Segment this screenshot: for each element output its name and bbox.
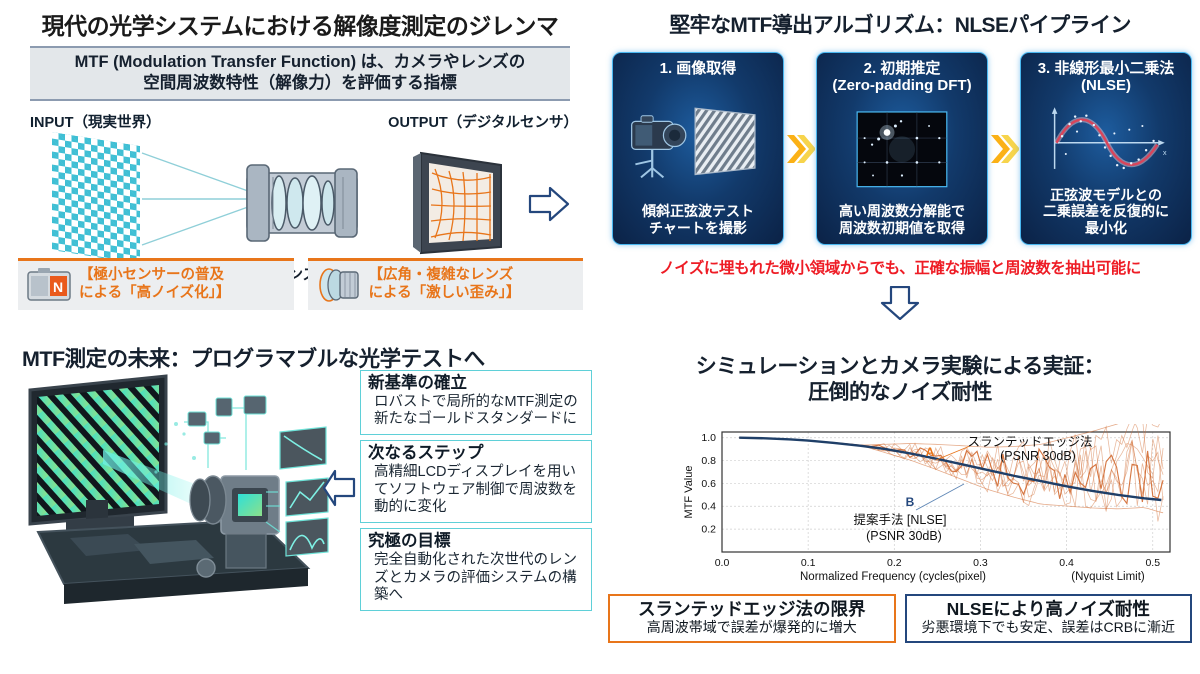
mtf-chart-svg: 0.20.40.60.81.00.00.10.20.30.40.5MTF Val… <box>678 424 1178 594</box>
pipeline-card-1: 1. 画像取得 <box>612 52 784 245</box>
validation-title-line1: シミュレーションとカメラ実験による実証： <box>600 354 1200 380</box>
card-3-footer: 正弦波モデルとの 二乗誤差を反復的に 最小化 <box>1038 185 1174 244</box>
svg-text:(Nyquist Limit): (Nyquist Limit) <box>1071 571 1145 583</box>
checkerboard-chart-icon <box>52 132 140 264</box>
future-box-standard-body: ロバストで局所的なMTF測定の新たなゴールドスタンダードに <box>368 394 585 429</box>
io-labels: INPUT（現実世界） OUTPUT（デジタルセンサ） <box>0 107 600 133</box>
conclusion-slanted-edge-body: 高周波帯域で誤差が爆発的に増大 <box>615 619 889 636</box>
arrow-left-icon <box>322 468 356 508</box>
chevron-arrow-1 <box>784 52 816 245</box>
camera-chart-icon <box>613 79 783 201</box>
card-1-footer: 傾斜正弦波テスト チャートを撮影 <box>637 201 759 244</box>
svg-text:0.0: 0.0 <box>715 557 730 569</box>
future-box-standard: 新基準の確立 ロバストで局所的なMTF測定の新たなゴールドスタンダードに <box>360 370 592 435</box>
arrow-right-icon <box>528 185 570 223</box>
mtf-chart: 0.20.40.60.81.00.00.10.20.30.40.5MTF Val… <box>678 424 1178 594</box>
pipeline-cards: 1. 画像取得 <box>612 52 1192 245</box>
future-box-nextstep: 次なるステップ 高精細LCDディスプレイを用いてソフトウェア制御で周波数を動的に… <box>360 440 592 523</box>
card-1-heading: 1. 画像取得 <box>656 53 741 79</box>
chevron-right-icon <box>989 129 1019 169</box>
validation-title-line2: 圧倒的なノイズ耐性 <box>600 380 1200 406</box>
svg-text:0.2: 0.2 <box>701 524 716 536</box>
conclusion-boxes: スランテッドエッジ法の限界 高周波帯域で誤差が爆発的に増大 NLSEにより高ノイ… <box>608 594 1192 643</box>
problem-list: N 【極小センサーの普及 による「高ノイズ化」】 【広角・複雑なレンズ による「… <box>18 258 583 310</box>
svg-text:0.4: 0.4 <box>1059 557 1074 569</box>
future-boxes: 新基準の確立 ロバストで局所的なMTF測定の新たなゴールドスタンダードに 次なる… <box>360 370 592 616</box>
future-box-nextstep-body: 高精細LCDディスプレイを用いてソフトウェア制御で周波数を動的に変化 <box>368 464 585 517</box>
pipeline-card-2: 2. 初期推定 (Zero-padding DFT) <box>816 52 988 245</box>
svg-text:A: A <box>926 445 935 459</box>
svg-text:x: x <box>1163 148 1167 157</box>
future-box-goal-body: 完全自動化された次世代のレンズとカメラの評価システムの構築へ <box>368 552 585 605</box>
future-title: MTF測定の未来：プログラマブルな光学テストへ <box>0 336 600 373</box>
svg-text:スランテッドエッジ法: スランテッドエッジ法 <box>967 435 1092 449</box>
card-2-art <box>817 97 987 202</box>
camera-noise-icon: N <box>26 267 72 303</box>
problem-distortion: 【広角・複雑なレンズ による「激しい歪み」】 <box>308 258 584 310</box>
card-2-footer: 高い周波数分解能で 周波数初期値を取得 <box>834 201 970 244</box>
svg-text:0.4: 0.4 <box>701 501 716 513</box>
sine-fit-icon: x <box>1021 97 1191 185</box>
svg-text:1.0: 1.0 <box>701 432 716 444</box>
svg-text:0.5: 0.5 <box>1145 557 1160 569</box>
input-label: INPUT（現実世界） <box>30 111 161 132</box>
panel-future: MTF測定の未来：プログラマブルな光学テストへ <box>0 336 600 674</box>
svg-text:N: N <box>53 279 63 295</box>
svg-text:(PSNR 30dB): (PSNR 30dB) <box>866 529 942 543</box>
card-3-art: x <box>1021 97 1191 185</box>
panel-validation: シミュレーションとカメラ実験による実証： 圧倒的なノイズ耐性 0.20.40.6… <box>600 336 1200 674</box>
problem-noise-text: 【極小センサーの普及 による「高ノイズ化」】 <box>79 267 230 302</box>
arrow-down-icon <box>879 286 921 320</box>
svg-text:提案手法 [NLSE]: 提案手法 [NLSE] <box>853 512 946 527</box>
problem-noise: N 【極小センサーの普及 による「高ノイズ化」】 <box>18 258 294 310</box>
future-box-standard-heading: 新基準の確立 <box>368 374 585 394</box>
mtf-definition-line1: MTF (Modulation Transfer Function) は、カメラ… <box>36 52 564 73</box>
conclusion-slanted-edge: スランテッドエッジ法の限界 高周波帯域で誤差が爆発的に増大 <box>608 594 896 643</box>
pipeline-card-3: 3. 非線形最小二乗法 (NLSE) x <box>1020 52 1192 245</box>
output-label: OUTPUT（デジタルセンサ） <box>388 111 578 132</box>
svg-text:0.1: 0.1 <box>801 557 816 569</box>
panel-pipeline: 堅牢なMTF導出アルゴリズム：NLSEパイプライン 1. 画像取得 <box>600 0 1200 320</box>
distorted-sensor-icon <box>405 147 511 259</box>
svg-text:0.6: 0.6 <box>701 478 716 490</box>
card-2-heading: 2. 初期推定 (Zero-padding DFT) <box>828 53 975 97</box>
lens-distortion-icon <box>316 267 362 303</box>
top-left-title: 現代の光学システムにおける解像度測定のジレンマ <box>0 0 600 41</box>
card-3-heading: 3. 非線形最小二乗法 (NLSE) <box>1034 53 1179 97</box>
optical-diagram: 被写体 結像レンズ系 歪みとノイズの影響 <box>0 133 600 273</box>
pipeline-title: 堅牢なMTF導出アルゴリズム：NLSEパイプライン <box>600 0 1200 39</box>
svg-text:0.8: 0.8 <box>701 455 716 467</box>
conclusion-nlse-body: 劣悪環境下でも安定、誤差はCRBに漸近 <box>912 619 1186 636</box>
future-box-goal-heading: 究極の目標 <box>368 532 585 552</box>
optical-test-bench-icon <box>8 372 338 622</box>
lens-assembly-icon <box>243 151 361 255</box>
conclusion-slanted-edge-heading: スランテッドエッジ法の限界 <box>615 599 889 619</box>
svg-text:0.3: 0.3 <box>973 557 988 569</box>
ray-lines-icon <box>140 147 250 251</box>
validation-title: シミュレーションとカメラ実験による実証： 圧倒的なノイズ耐性 <box>600 336 1200 407</box>
svg-text:B: B <box>906 495 915 509</box>
mtf-definition: MTF (Modulation Transfer Function) は、カメラ… <box>30 48 570 101</box>
chevron-right-icon <box>785 129 815 169</box>
svg-text:Normalized Frequency (cycles(p: Normalized Frequency (cycles(pixel) <box>800 571 986 583</box>
svg-text:MTF Value: MTF Value <box>683 466 695 519</box>
chevron-arrow-2 <box>988 52 1020 245</box>
panel-dilemma: 現代の光学システムにおける解像度測定のジレンマ MTF (Modulation … <box>0 0 600 312</box>
conclusion-nlse: NLSEにより高ノイズ耐性 劣悪環境下でも安定、誤差はCRBに漸近 <box>905 594 1193 643</box>
dft-spectrum-icon <box>817 97 987 202</box>
svg-text:0.2: 0.2 <box>887 557 902 569</box>
future-box-nextstep-heading: 次なるステップ <box>368 444 585 464</box>
svg-text:(PSNR 30dB): (PSNR 30dB) <box>1000 449 1076 463</box>
conclusion-nlse-heading: NLSEにより高ノイズ耐性 <box>912 599 1186 619</box>
problem-distortion-text: 【広角・複雑なレンズ による「激しい歪み」】 <box>369 267 521 302</box>
pipeline-highlight: ノイズに埋もれた微小領域からでも、正確な振幅と周波数を抽出可能に <box>600 256 1200 278</box>
future-box-goal: 究極の目標 完全自動化された次世代のレンズとカメラの評価システムの構築へ <box>360 528 592 611</box>
mtf-definition-line2: 空間周波数特性（解像力）を評価する指標 <box>36 73 564 94</box>
card-1-art <box>613 79 783 201</box>
